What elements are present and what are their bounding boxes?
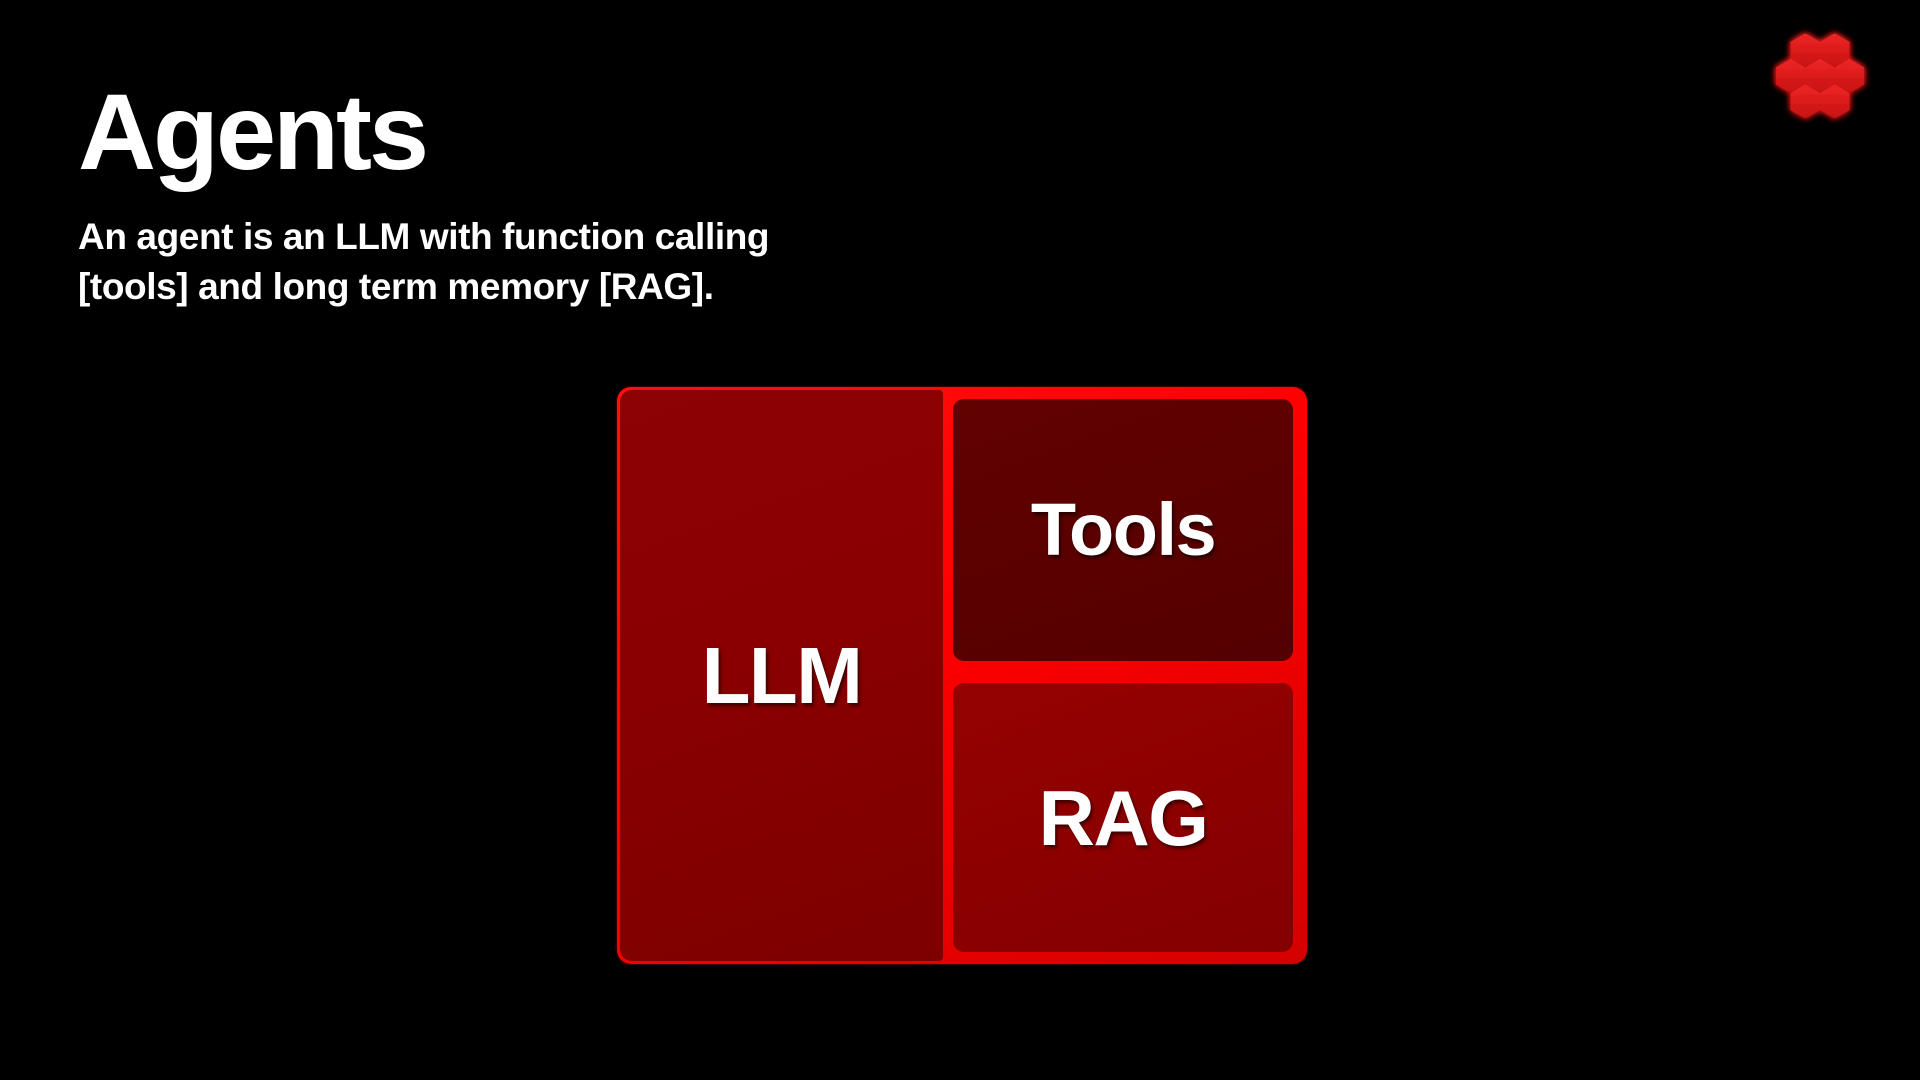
panel-llm[interactable]: LLM bbox=[620, 390, 943, 961]
panel-llm-label: LLM bbox=[702, 636, 862, 716]
subtitle-line-1: An agent is an LLM with function calling bbox=[78, 212, 1038, 262]
panel-tools[interactable]: Tools bbox=[953, 399, 1293, 661]
diagram-right-column: Tools RAG bbox=[943, 387, 1307, 964]
slide-root: Agents An agent is an LLM with function … bbox=[0, 0, 1920, 1080]
diagram-left-column: LLM bbox=[617, 387, 943, 964]
panel-rag-label: RAG bbox=[1039, 779, 1208, 857]
page-title: Agents bbox=[78, 78, 1178, 186]
hexagon-cluster-icon bbox=[1758, 22, 1878, 142]
heading-block: Agents An agent is an LLM with function … bbox=[78, 78, 1178, 313]
panel-tools-label: Tools bbox=[1031, 493, 1215, 567]
subtitle-line-2: [tools] and long term memory [RAG]. bbox=[78, 262, 1038, 312]
slide-subtitle: An agent is an LLM with function calling… bbox=[78, 212, 1038, 313]
panel-rag[interactable]: RAG bbox=[953, 683, 1293, 952]
agent-architecture-diagram: LLM Tools RAG bbox=[617, 387, 1307, 964]
hexagon-cluster-logo bbox=[1758, 22, 1878, 142]
